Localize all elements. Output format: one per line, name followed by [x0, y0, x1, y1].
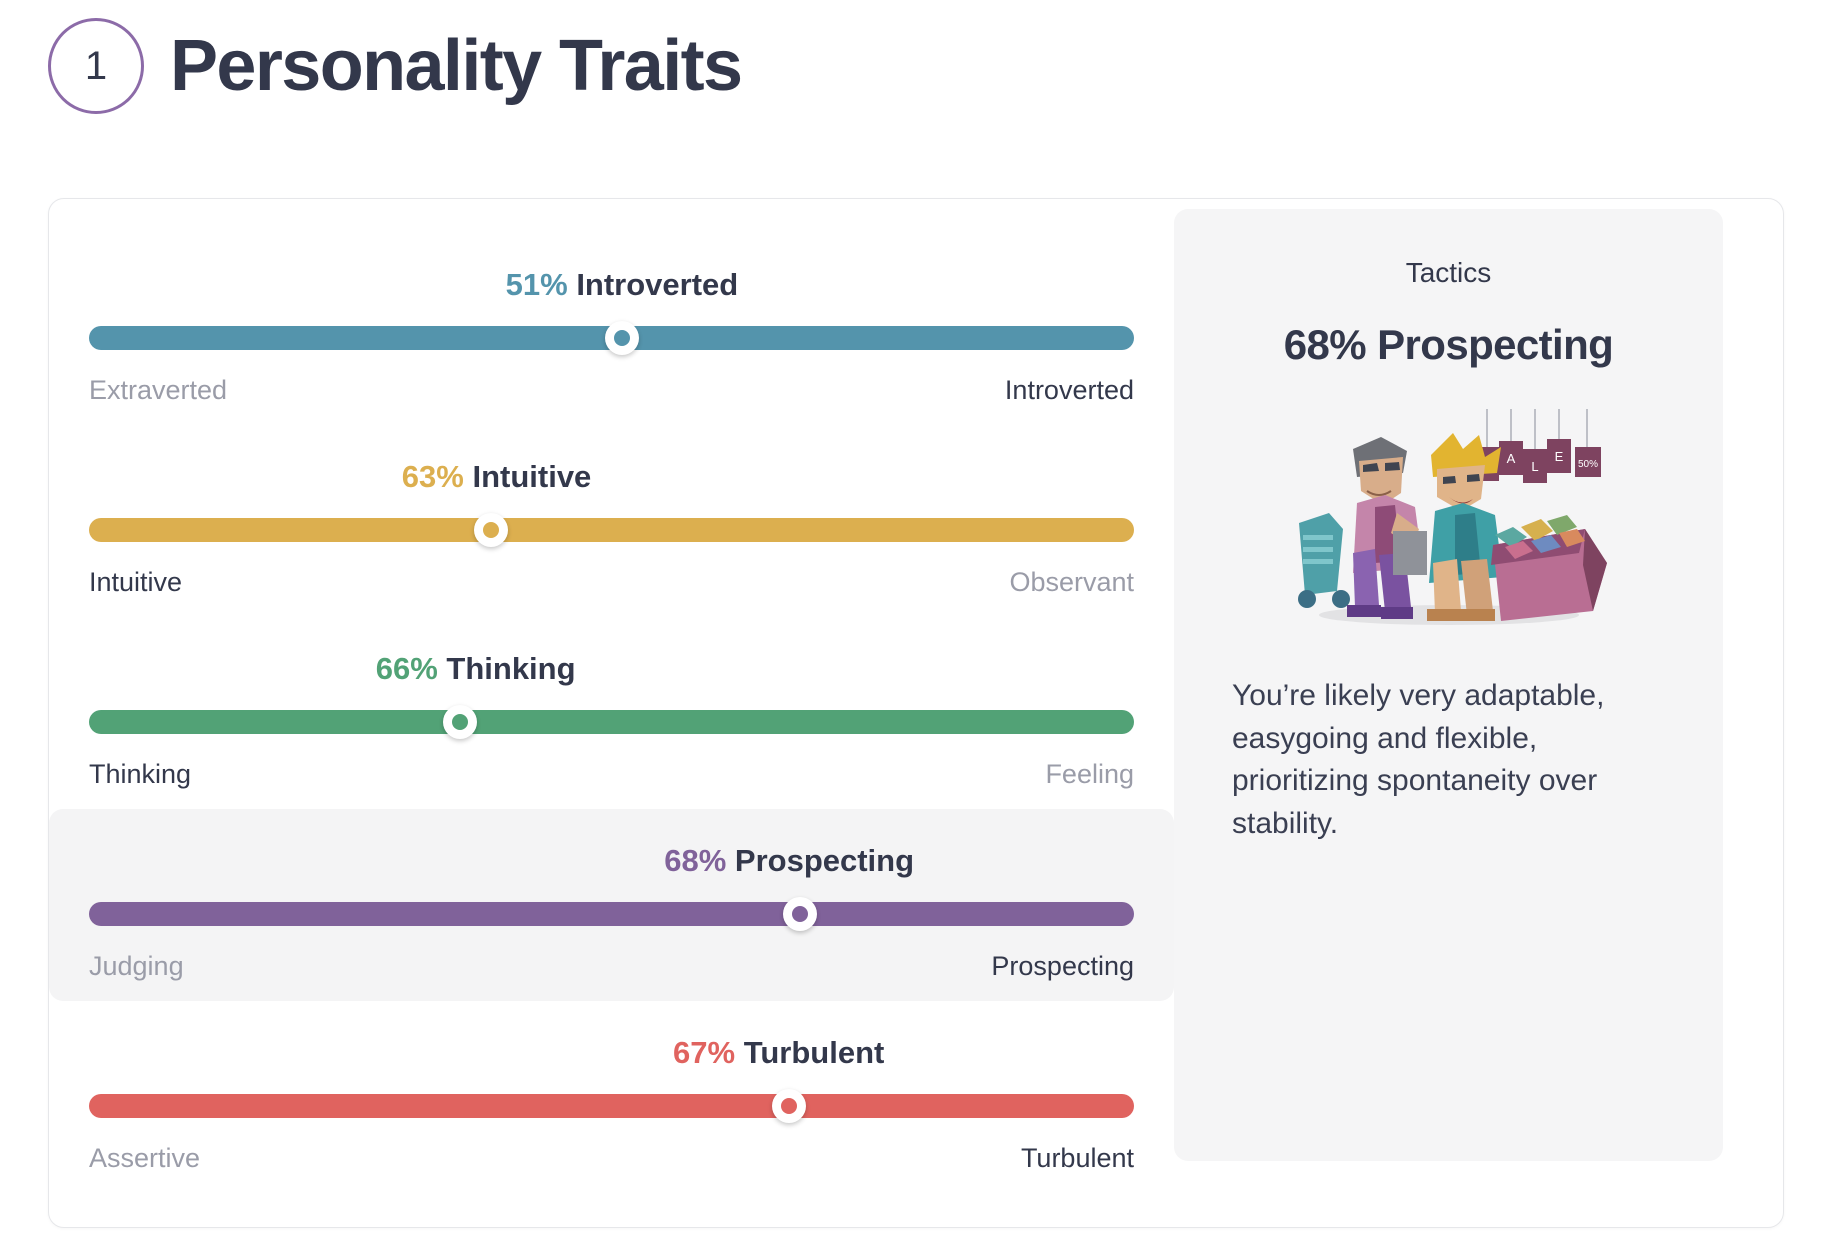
sale-shoppers-illustration: S A L E 50% — [1279, 403, 1619, 631]
trait-percent: 63% — [402, 459, 464, 494]
trait-right-label: Prospecting — [991, 953, 1134, 980]
tactics-side-column: Tactics 68% Prospecting — [1174, 199, 1745, 1227]
trait-slider[interactable]: 51% IntrovertedExtravertedIntroverted — [89, 233, 1134, 425]
trait-slider[interactable]: 63% IntuitiveIntuitiveObservant — [89, 425, 1134, 617]
trait-left-label: Extraverted — [89, 377, 227, 404]
trait-row: 63% IntuitiveIntuitiveObservant — [49, 425, 1174, 617]
trait-headline: 63% Intuitive — [402, 461, 592, 492]
trait-row: 66% ThinkingThinkingFeeling — [49, 617, 1174, 809]
trait-name: Introverted — [576, 267, 738, 302]
svg-text:50%: 50% — [1577, 459, 1597, 470]
trait-bar-fill — [89, 1094, 1134, 1118]
trait-headline: 68% Prospecting — [664, 845, 914, 876]
trait-bar-fill — [89, 518, 1134, 542]
trait-slider[interactable]: 68% ProspectingJudgingProspecting — [89, 809, 1134, 1001]
trait-bar-fill — [89, 710, 1134, 734]
trait-left-label: Judging — [89, 953, 184, 980]
trait-bar-track[interactable] — [89, 326, 1134, 350]
trait-endpoint-labels: ThinkingFeeling — [89, 761, 1134, 788]
trait-percent: 67% — [673, 1035, 735, 1070]
trait-bar-track[interactable] — [89, 518, 1134, 542]
trait-slider-knob[interactable] — [443, 705, 477, 739]
svg-text:A: A — [1506, 451, 1515, 466]
tactics-headline: 68% Prospecting — [1284, 321, 1613, 369]
trait-right-label: Observant — [1009, 569, 1134, 596]
trait-slider-knob-dot — [781, 1098, 797, 1114]
trait-slider-knob-dot — [614, 330, 630, 346]
tactics-description: You’re likely very adaptable, easygoing … — [1232, 675, 1665, 845]
trait-name: Prospecting — [735, 843, 914, 878]
trait-percent: 66% — [376, 651, 438, 686]
trait-left-label: Intuitive — [89, 569, 182, 596]
svg-text:L: L — [1531, 459, 1538, 474]
trait-slider-knob[interactable] — [772, 1089, 806, 1123]
trait-bar-fill — [89, 902, 1134, 926]
tactics-percent: 68% — [1284, 321, 1366, 368]
page-title: Personality Traits — [170, 30, 741, 102]
step-number-badge: 1 — [48, 18, 144, 114]
trait-slider-knob-dot — [483, 522, 499, 538]
trait-right-label: Introverted — [1005, 377, 1134, 404]
trait-headline-row: 63% Intuitive — [89, 461, 1134, 501]
tactics-panel: Tactics 68% Prospecting — [1174, 209, 1723, 1161]
trait-left-label: Assertive — [89, 1145, 200, 1172]
trait-slider-knob[interactable] — [783, 897, 817, 931]
trait-headline-row: 66% Thinking — [89, 653, 1134, 693]
trait-slider-knob[interactable] — [474, 513, 508, 547]
trait-slider[interactable]: 67% TurbulentAssertiveTurbulent — [89, 1001, 1134, 1193]
trait-right-label: Feeling — [1045, 761, 1134, 788]
trait-slider-knob-dot — [452, 714, 468, 730]
tactics-kicker: Tactics — [1406, 259, 1492, 287]
trait-row: 67% TurbulentAssertiveTurbulent — [49, 1001, 1174, 1193]
trait-bar-track[interactable] — [89, 902, 1134, 926]
traits-card: 51% IntrovertedExtravertedIntroverted63%… — [48, 198, 1784, 1228]
trait-name: Thinking — [446, 651, 575, 686]
trait-headline: 66% Thinking — [376, 653, 576, 684]
page-header: 1 Personality Traits — [48, 18, 741, 114]
trait-headline: 51% Introverted — [506, 269, 739, 300]
trait-slider[interactable]: 66% ThinkingThinkingFeeling — [89, 617, 1134, 809]
trait-bar-track[interactable] — [89, 710, 1134, 734]
trait-headline-row: 67% Turbulent — [89, 1037, 1134, 1077]
trait-endpoint-labels: ExtravertedIntroverted — [89, 377, 1134, 404]
trait-bar-track[interactable] — [89, 1094, 1134, 1118]
trait-slider-knob-dot — [792, 906, 808, 922]
trait-endpoint-labels: AssertiveTurbulent — [89, 1145, 1134, 1172]
trait-slider-list: 51% IntrovertedExtravertedIntroverted63%… — [49, 199, 1174, 1227]
trait-left-label: Thinking — [89, 761, 191, 788]
svg-text:E: E — [1554, 449, 1563, 464]
trait-headline: 67% Turbulent — [673, 1037, 884, 1068]
trait-percent: 51% — [506, 267, 568, 302]
trait-endpoint-labels: IntuitiveObservant — [89, 569, 1134, 596]
trait-percent: 68% — [664, 843, 726, 878]
trait-slider-knob[interactable] — [605, 321, 639, 355]
trait-headline-row: 68% Prospecting — [89, 845, 1134, 885]
step-number-label: 1 — [85, 44, 107, 89]
trait-row: 51% IntrovertedExtravertedIntroverted — [49, 233, 1174, 425]
trait-right-label: Turbulent — [1021, 1145, 1134, 1172]
tactics-trait: Prospecting — [1377, 321, 1613, 368]
personality-traits-page: 1 Personality Traits 51% IntrovertedExtr… — [0, 0, 1832, 1238]
trait-endpoint-labels: JudgingProspecting — [89, 953, 1134, 980]
trait-name: Intuitive — [472, 459, 591, 494]
trait-headline-row: 51% Introverted — [89, 269, 1134, 309]
trait-name: Turbulent — [744, 1035, 885, 1070]
trait-row: 68% ProspectingJudgingProspecting — [49, 809, 1174, 1001]
